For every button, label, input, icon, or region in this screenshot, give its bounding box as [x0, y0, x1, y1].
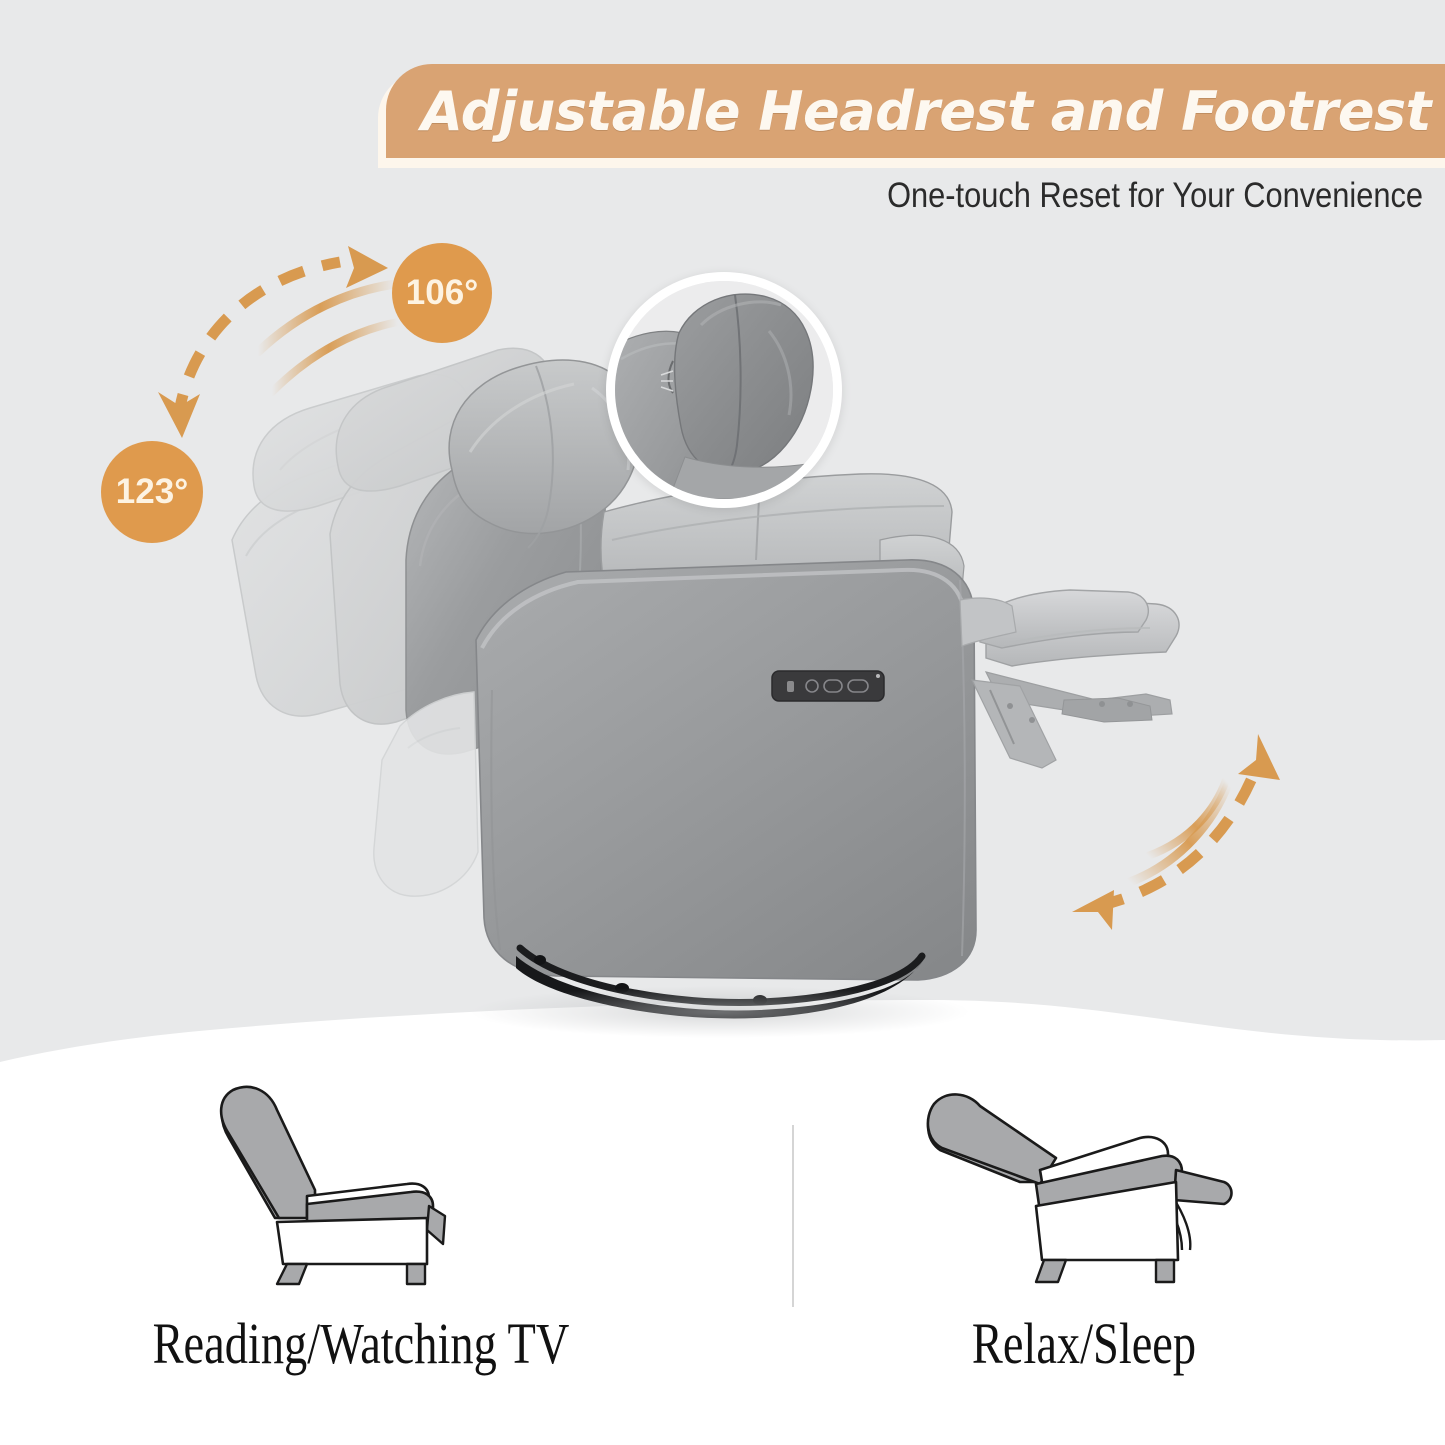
badge-value: 106° [406, 273, 478, 313]
badge-value: 123° [116, 472, 188, 512]
chair-upright-icon-wrap [0, 1060, 722, 1310]
chair-upright-icon [211, 1078, 511, 1293]
chair-illustration [0, 0, 1445, 1100]
chair-reclined-icon [924, 1078, 1244, 1293]
mode-label-reading: Reading/Watching TV [72, 1310, 650, 1377]
chair-reclined-icon-wrap [723, 1060, 1445, 1310]
badge-recline-angle-upper: 106° [392, 243, 492, 343]
mode-divider [792, 1125, 794, 1307]
badge-recline-angle-lower: 123° [101, 441, 203, 543]
mode-relax: Relax/Sleep [723, 1060, 1445, 1445]
headrest-closeup-image [615, 281, 833, 499]
mode-reading: Reading/Watching TV [0, 1060, 722, 1445]
side-control-panel [772, 671, 884, 701]
mode-label-relax: Relax/Sleep [795, 1310, 1373, 1377]
footrest-mechanism [972, 672, 1172, 768]
headrest-closeup-inset [606, 272, 842, 508]
product-feature-graphic: Adjustable Headrest and Footrest One-tou… [0, 0, 1445, 1445]
mode-section: Reading/Watching TV [0, 1060, 1445, 1445]
